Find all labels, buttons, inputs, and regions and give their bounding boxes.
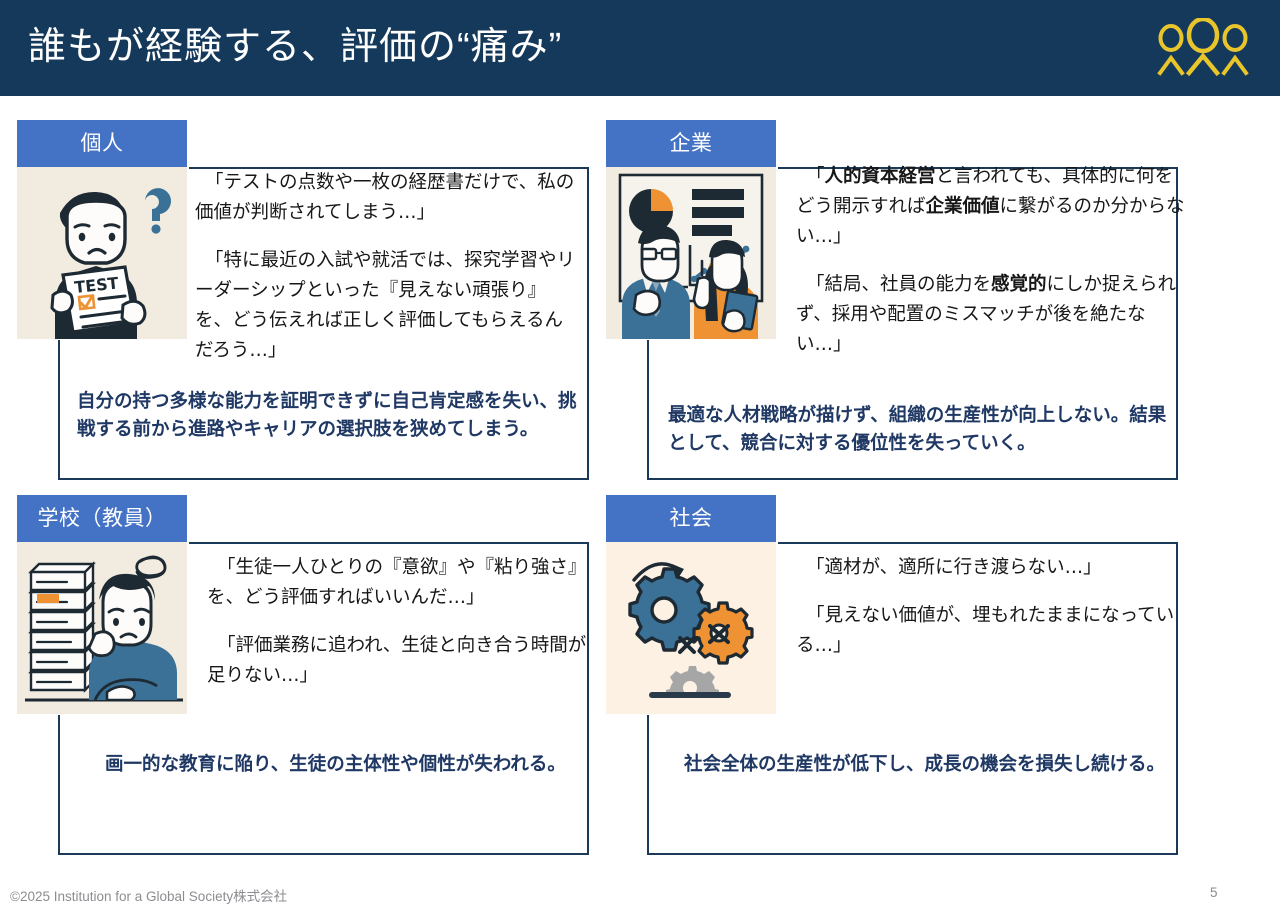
conclusion-school-teacher: 画一的な教育に陥り、生徒の主体性や個性が失われる。 xyxy=(105,751,605,779)
card-label-society: 社会 xyxy=(606,495,776,542)
card-individual: 個人 xyxy=(17,120,589,480)
three-people-logo xyxy=(1156,18,1250,78)
conclusion-individual: 自分の持つ多様な能力を証明できずに自己肯定感を失い、挑戦する前から進路やキャリア… xyxy=(77,388,577,444)
cards-grid: 個人 xyxy=(0,96,1280,866)
card-company: 企業 xyxy=(606,120,1178,480)
quote-item: 「テストの点数や一枚の経歴書だけで、私の価値が判断されてしまう…」 xyxy=(195,168,577,228)
overworked-teacher-with-paper-stack-illustration xyxy=(17,542,187,714)
mismatched-gears-illustration xyxy=(606,542,776,714)
copyright-text: ©2025 Institution for a Global Society株式… xyxy=(10,885,287,905)
page-number: 5 xyxy=(1210,885,1218,900)
worried-student-with-test-paper-illustration: TEST xyxy=(17,167,187,339)
quote-list-individual: 「テストの点数や一枚の経歴書だけで、私の価値が判断されてしまう…」 「特に最近の… xyxy=(195,168,577,366)
quote-item: 「結局、社員の能力を感覚的にしか捉えられず、採用や配置のミスマッチが後を絶たない… xyxy=(796,270,1188,360)
quote-item: 「評価業務に追われ、生徒と向き合う時間が足りない…」 xyxy=(207,631,589,691)
quote-list-school-teacher: 「生徒一人ひとりの『意欲』や『粘り強さ』を、どう評価すればいいんだ…」 「評価業… xyxy=(207,553,589,691)
conclusion-company: 最適な人材戦略が描けず、組織の生産性が向上しない。結果として、競合に対する優位性… xyxy=(668,402,1178,458)
card-school-teacher: 学校（教員） xyxy=(17,495,589,855)
quote-item: 「適材が、適所に行き渡らない…」 xyxy=(796,553,1178,583)
conclusion-society: 社会全体の生産性が低下し、成長の機会を損失し続ける。 xyxy=(684,751,1184,779)
slide-header: 誰もが経験する、評価の“痛み” xyxy=(0,0,1280,96)
business-people-with-charts-illustration xyxy=(606,167,776,339)
card-label-school-teacher: 学校（教員） xyxy=(17,495,187,542)
quote-item: 「見えない価値が、埋もれたままになっている…」 xyxy=(796,601,1178,661)
quote-list-company: 「人的資本経営と言われても、具体的に何をどう開示すれば企業価値に繋がるのか分から… xyxy=(796,162,1188,360)
quote-item: 「生徒一人ひとりの『意欲』や『粘り強さ』を、どう評価すればいいんだ…」 xyxy=(207,553,589,613)
card-society: 社会 xyxy=(606,495,1178,855)
quote-list-society: 「適材が、適所に行き渡らない…」 「見えない価値が、埋もれたままになっている…」 xyxy=(796,553,1178,661)
card-label-company: 企業 xyxy=(606,120,776,167)
quote-item: 「人的資本経営と言われても、具体的に何をどう開示すれば企業価値に繋がるのか分から… xyxy=(796,162,1188,252)
page-title: 誰もが経験する、評価の“痛み” xyxy=(28,20,562,74)
card-label-individual: 個人 xyxy=(17,120,187,167)
quote-item: 「特に最近の入試や就活では、探究学習やリーダーシップといった『見えない頑張り』を… xyxy=(195,246,577,366)
